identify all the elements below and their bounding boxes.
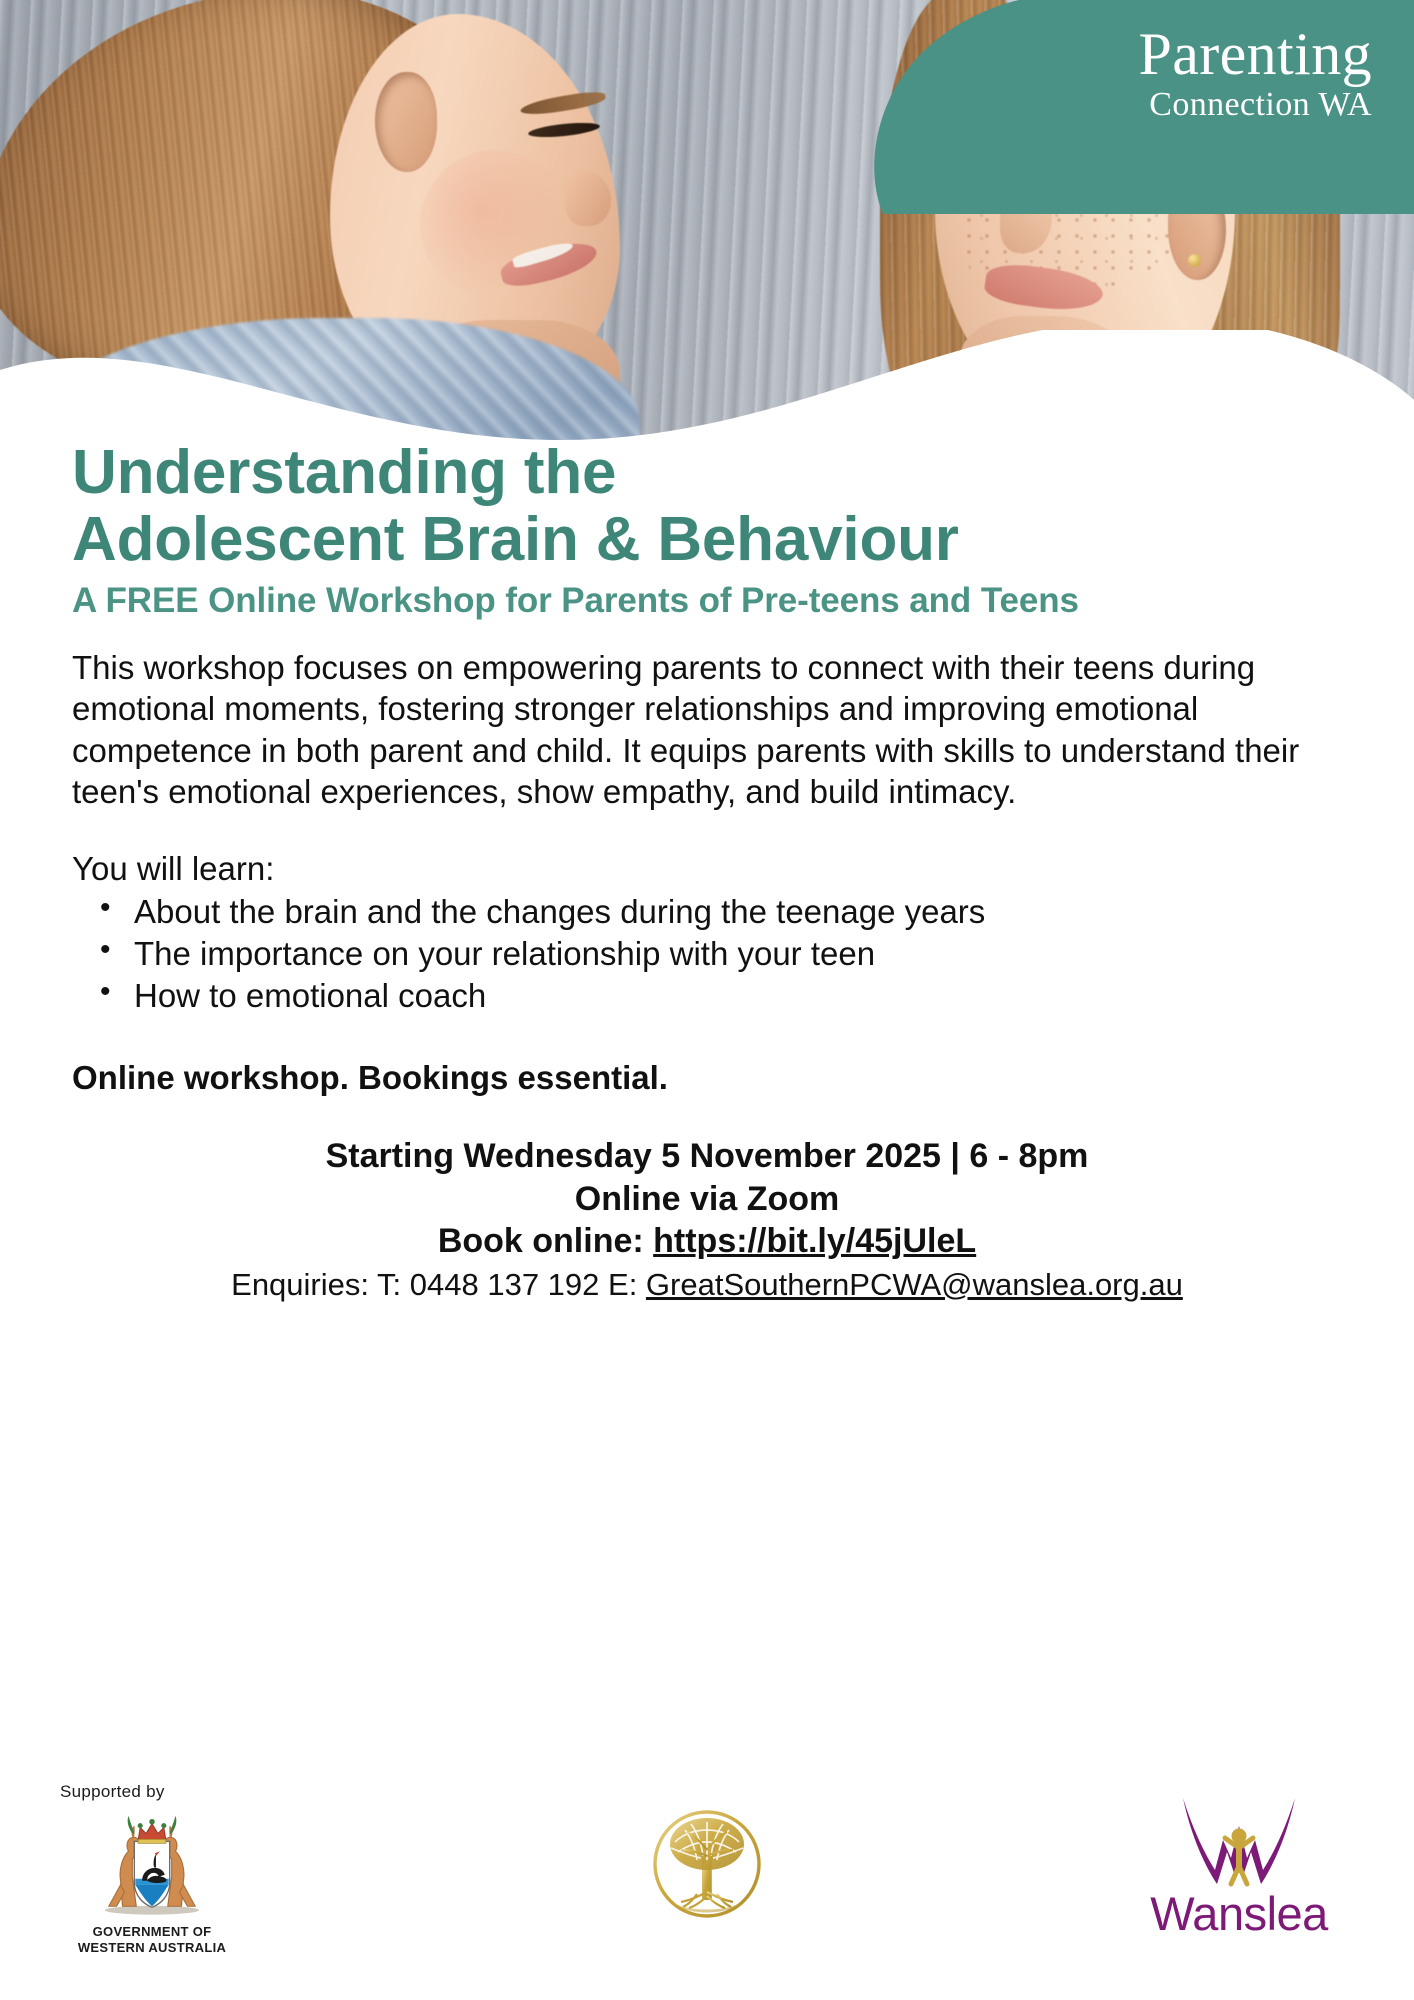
enquiries-label: Enquiries: T: 0448 137 192 E:	[231, 1267, 646, 1302]
booking-link[interactable]: https://bit.ly/45jUleL	[653, 1222, 976, 1260]
learn-lead-in: You will learn:	[72, 848, 1342, 889]
wanslea-wordmark: Wanslea	[1134, 1890, 1344, 1937]
brand-logo-line2: Connection WA	[1138, 88, 1372, 122]
event-platform: Online via Zoom	[72, 1178, 1342, 1221]
tree-of-life-icon	[651, 1808, 763, 1920]
brand-logo: Parenting Connection WA	[1138, 24, 1372, 122]
brand-badge: Parenting Connection WA	[869, 0, 1414, 240]
page-title: Understanding the Adolescent Brain & Beh…	[72, 440, 1342, 574]
wanslea-w-mark-icon	[1175, 1796, 1303, 1888]
enquiries-line: Enquiries: T: 0448 137 192 E: GreatSouth…	[72, 1265, 1342, 1305]
hero-banner: Parenting Connection WA	[0, 0, 1414, 470]
government-label-line2: WESTERN AUSTRALIA	[52, 1940, 252, 1956]
event-date-time: Starting Wednesday 5 November 2025 | 6 -…	[72, 1135, 1342, 1178]
page-title-line1: Understanding the	[72, 438, 616, 507]
supported-by-label: Supported by	[52, 1782, 252, 1802]
list-item: About the brain and the changes during t…	[72, 891, 1342, 933]
bookings-notice: Online workshop. Bookings essential.	[72, 1059, 1342, 1097]
list-item: How to emotional coach	[72, 975, 1342, 1017]
booking-label: Book online:	[438, 1222, 653, 1260]
footer-logos: Supported by	[0, 1760, 1414, 2000]
event-details: Starting Wednesday 5 November 2025 | 6 -…	[72, 1135, 1342, 1305]
main-content: Understanding the Adolescent Brain & Beh…	[0, 440, 1414, 1305]
brand-logo-line1: Parenting	[1138, 24, 1372, 84]
booking-line: Book online: https://bit.ly/45jUleL	[72, 1220, 1342, 1263]
wanslea-logo-block: Wanslea	[1134, 1796, 1344, 1937]
government-label: GOVERNMENT OF WESTERN AUSTRALIA	[52, 1924, 252, 1957]
government-label-line1: GOVERNMENT OF	[52, 1924, 252, 1940]
enquiries-email-link[interactable]: GreatSouthernPCWA@wanslea.org.au	[646, 1267, 1183, 1302]
list-item: The importance on your relationship with…	[72, 933, 1342, 975]
page-subtitle: A FREE Online Workshop for Parents of Pr…	[72, 580, 1342, 621]
workshop-description: This workshop focuses on empowering pare…	[72, 647, 1342, 812]
page-title-line2: Adolescent Brain & Behaviour	[72, 507, 1342, 574]
learning-outcomes-list: About the brain and the changes during t…	[72, 891, 1342, 1017]
